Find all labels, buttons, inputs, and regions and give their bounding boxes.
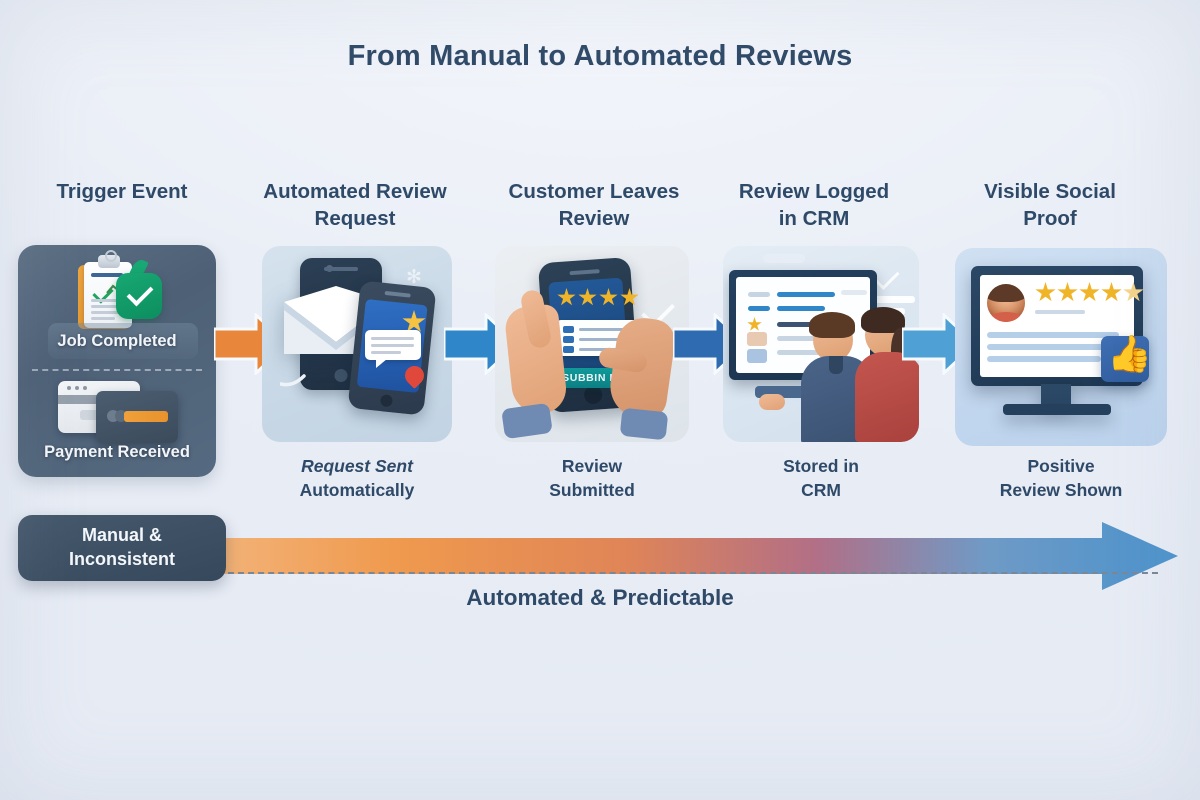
credit-card-front-icon bbox=[96, 391, 178, 443]
infographic-canvas: From Manual to Automated Reviews Trigger… bbox=[0, 0, 1200, 800]
panel-crm-logged bbox=[723, 246, 919, 442]
job-completed-label: Job Completed bbox=[18, 332, 216, 351]
caption-2: Request Sent Automatically bbox=[262, 455, 452, 502]
panel-divider bbox=[32, 369, 202, 371]
timeline-dash bbox=[228, 572, 1158, 574]
white-check-icon bbox=[873, 264, 899, 290]
step-header-1: Trigger Event bbox=[20, 178, 224, 205]
panel-customer-review: SUBBIN NEW bbox=[495, 246, 689, 442]
hand-on-mouse-icon bbox=[759, 394, 785, 410]
page-title: From Manual to Automated Reviews bbox=[0, 40, 1200, 73]
panel-automated-request: ✻ bbox=[262, 246, 452, 442]
sleeve-left bbox=[501, 403, 553, 439]
monitor-base bbox=[1003, 404, 1111, 415]
monitor-neck bbox=[1041, 384, 1071, 406]
caption-5: Positive Review Shown bbox=[955, 455, 1167, 502]
step-header-5: Visible Social Proof bbox=[945, 178, 1155, 232]
top-chip bbox=[763, 254, 805, 263]
thumbs-up-icon: 👍 bbox=[1107, 336, 1152, 372]
reviewer-name-line bbox=[1035, 310, 1085, 314]
review-text-line bbox=[987, 356, 1101, 362]
payment-received-label: Payment Received bbox=[18, 443, 216, 462]
crm-side-chip bbox=[873, 296, 915, 303]
automated-predictable-label: Automated & Predictable bbox=[0, 585, 1200, 611]
caption-4: Stored in CRM bbox=[723, 455, 919, 502]
avatar bbox=[987, 284, 1025, 322]
panel-social-proof: 👍 bbox=[955, 248, 1167, 446]
swoosh-icon bbox=[280, 374, 306, 388]
step-header-4: Review Logged in CRM bbox=[714, 178, 914, 232]
review-text-line bbox=[987, 332, 1119, 338]
message-bubble-icon bbox=[365, 330, 421, 360]
sleeve-right bbox=[620, 408, 669, 441]
panel-trigger-event: Job Completed Payment Received bbox=[18, 245, 216, 477]
green-check-badge-icon bbox=[116, 273, 162, 319]
caption-3: Review Submitted bbox=[495, 455, 689, 502]
step-header-2: Automated Review Request bbox=[252, 178, 458, 232]
progress-gradient-arrow bbox=[222, 520, 1180, 592]
step-header-3: Customer Leaves Review bbox=[488, 178, 700, 232]
sparkle-icon: ✻ bbox=[406, 268, 422, 287]
manual-inconsistent-badge: Manual & Inconsistent bbox=[18, 515, 226, 581]
